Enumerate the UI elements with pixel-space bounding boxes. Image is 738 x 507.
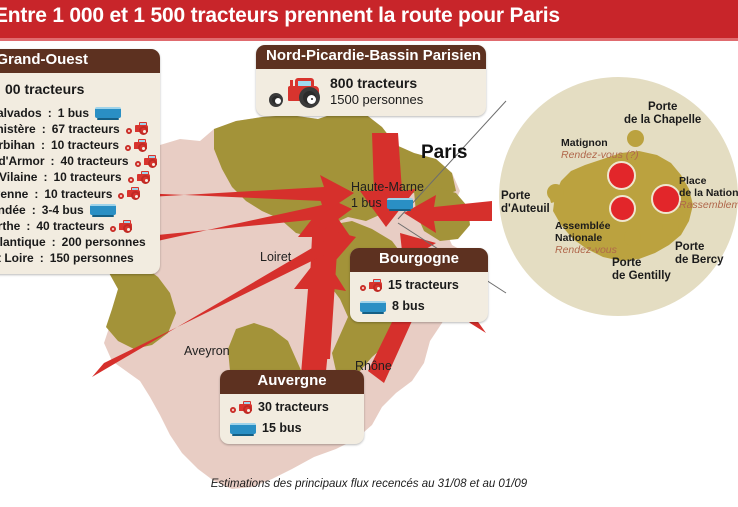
list-item: arthe : 40 tracteurs bbox=[0, 218, 151, 234]
tractor-icon bbox=[125, 139, 147, 152]
porte-label-auteuil: Porte d'Auteuil bbox=[501, 190, 550, 216]
rally-label-assemblee: Assemblée Nationale Rendez-vous bbox=[555, 220, 617, 256]
label-loiret: Loiret bbox=[260, 250, 291, 264]
dept-sep: : bbox=[48, 105, 52, 121]
grand-ouest-total: 00 tracteurs bbox=[5, 80, 151, 99]
map-stage: Paris Haute-Marne 1 bus Loiret Aveyron R… bbox=[0, 41, 738, 507]
tractor-icon bbox=[128, 171, 150, 184]
panel-bourgogne[interactable]: Bourgogne 15 tracteurs 8 bus bbox=[350, 248, 488, 322]
list-item: endée : 3-4 bus bbox=[0, 202, 151, 218]
dept-name: e et Vilaine bbox=[0, 169, 37, 185]
haute-marne-value: 1 bus bbox=[351, 196, 382, 210]
list-item: ayenne : 10 tracteurs bbox=[0, 186, 151, 202]
list-item: e et Vilaine : 10 tracteurs bbox=[0, 169, 151, 185]
dept-sep: : bbox=[26, 218, 30, 234]
list-item: 15 bus bbox=[230, 420, 354, 437]
list-item: 15 tracteurs bbox=[360, 277, 478, 294]
panel-bourgogne-title: Bourgogne bbox=[350, 248, 488, 272]
porte-label-gentilly: Porte de Gentilly bbox=[612, 257, 671, 283]
dept-sep: : bbox=[43, 169, 47, 185]
label-paris: Paris bbox=[421, 142, 467, 164]
list-item: ôte d'Armor : 40 tracteurs bbox=[0, 153, 151, 169]
tractor-icon bbox=[126, 122, 148, 135]
panel-auvergne-title: Auvergne bbox=[220, 370, 364, 394]
dept-sep: : bbox=[34, 186, 38, 202]
tractor-icon bbox=[135, 155, 157, 168]
porte-label-bercy: Porte de Bercy bbox=[675, 241, 724, 267]
dept-sep: : bbox=[41, 137, 45, 153]
dept-name: oire-Atlantique bbox=[0, 234, 46, 250]
dept-value: 1 bus bbox=[58, 105, 89, 121]
bus-icon bbox=[230, 423, 256, 434]
haute-marne-value-row: 1 bus bbox=[351, 196, 413, 210]
porte-label-chapelle: Porte de la Chapelle bbox=[624, 101, 701, 127]
dept-name: ayenne bbox=[0, 186, 28, 202]
panel-nord-picardie-title: Nord-Picardie-Bassin Parisien bbox=[256, 45, 486, 69]
tractor-icon bbox=[118, 187, 140, 200]
panel-nord-picardie[interactable]: Nord-Picardie-Bassin Parisien 800 tracte… bbox=[256, 45, 486, 116]
dept-name: orbihan bbox=[0, 137, 35, 153]
dept-value: 10 tracteurs bbox=[51, 137, 119, 153]
bus-icon bbox=[95, 107, 121, 118]
bourgogne-buses: 8 bus bbox=[392, 298, 425, 315]
bus-icon bbox=[90, 204, 116, 215]
tractor-icon bbox=[268, 75, 320, 108]
bus-icon bbox=[387, 198, 413, 209]
dept-sep: : bbox=[42, 121, 46, 137]
dept-value: 10 tracteurs bbox=[44, 186, 112, 202]
dept-value: 3-4 bus bbox=[42, 202, 84, 218]
nord-people: 1500 personnes bbox=[330, 92, 423, 107]
dept-value: 10 tracteurs bbox=[53, 169, 121, 185]
tractor-icon bbox=[230, 401, 252, 414]
paris-inset: Porte de la Chapelle Porte d'Auteuil Por… bbox=[499, 77, 738, 316]
list-item: 30 tracteurs bbox=[230, 399, 354, 416]
dept-value: 67 tracteurs bbox=[52, 121, 120, 137]
dept-sep: : bbox=[40, 250, 44, 266]
dept-sep: : bbox=[32, 202, 36, 218]
rally-dot-matignon bbox=[607, 161, 636, 190]
panel-auvergne[interactable]: Auvergne 30 tracteurs 15 bus bbox=[220, 370, 364, 444]
porte-dot-gentilly bbox=[624, 229, 641, 246]
rally-dot-assemblee bbox=[609, 195, 636, 222]
dept-value: 40 tracteurs bbox=[61, 153, 129, 169]
panel-grand-ouest[interactable]: Grand-Ouest 00 tracteurs alvados : 1 bus… bbox=[0, 49, 160, 274]
dept-name: aine et Loire bbox=[0, 250, 34, 266]
title-bar: Entre 1 000 et 1 500 tracteurs prennent … bbox=[0, 0, 738, 38]
dept-name: inistère bbox=[0, 121, 36, 137]
dept-sep: : bbox=[52, 234, 56, 250]
nord-tractors: 800 tracteurs bbox=[330, 75, 423, 91]
auvergne-tractors: 30 tracteurs bbox=[258, 399, 329, 416]
list-item: orbihan : 10 tracteurs bbox=[0, 137, 151, 153]
list-item: alvados : 1 bus bbox=[0, 105, 151, 121]
dept-name: endée bbox=[0, 202, 26, 218]
label-aveyron: Aveyron bbox=[184, 344, 230, 358]
list-item: 8 bus bbox=[360, 298, 478, 315]
list-item: oire-Atlantique : 200 personnes bbox=[0, 234, 151, 250]
dept-name: alvados bbox=[0, 105, 42, 121]
auvergne-buses: 15 bus bbox=[262, 420, 302, 437]
dept-name: ôte d'Armor bbox=[0, 153, 45, 169]
dept-sep: : bbox=[51, 153, 55, 169]
dept-value: 150 personnes bbox=[50, 250, 134, 266]
footer-caption: Estimations des principaux flux recencés… bbox=[0, 478, 738, 490]
dept-value: 200 personnes bbox=[62, 234, 146, 250]
porte-dot-bercy bbox=[662, 219, 679, 236]
footer-rule bbox=[0, 503, 738, 507]
page-title: Entre 1 000 et 1 500 tracteurs prennent … bbox=[0, 4, 560, 28]
rally-label-nation: Place de la Nation Rassemblement bbox=[679, 175, 738, 211]
panel-grand-ouest-title: Grand-Ouest bbox=[0, 49, 160, 73]
tractor-icon bbox=[110, 220, 132, 233]
bourgogne-tractors: 15 tracteurs bbox=[388, 277, 459, 294]
dept-name: arthe bbox=[0, 218, 20, 234]
rally-label-matignon: Matignon Rendez-vous (?) bbox=[561, 137, 639, 161]
list-item: aine et Loire : 150 personnes bbox=[0, 250, 151, 266]
rally-dot-nation bbox=[651, 184, 681, 214]
label-haute-marne: Haute-Marne bbox=[351, 180, 424, 194]
dept-value: 40 tracteurs bbox=[36, 218, 104, 234]
bus-icon bbox=[360, 301, 386, 312]
tractor-icon bbox=[360, 279, 382, 292]
list-item: inistère : 67 tracteurs bbox=[0, 121, 151, 137]
